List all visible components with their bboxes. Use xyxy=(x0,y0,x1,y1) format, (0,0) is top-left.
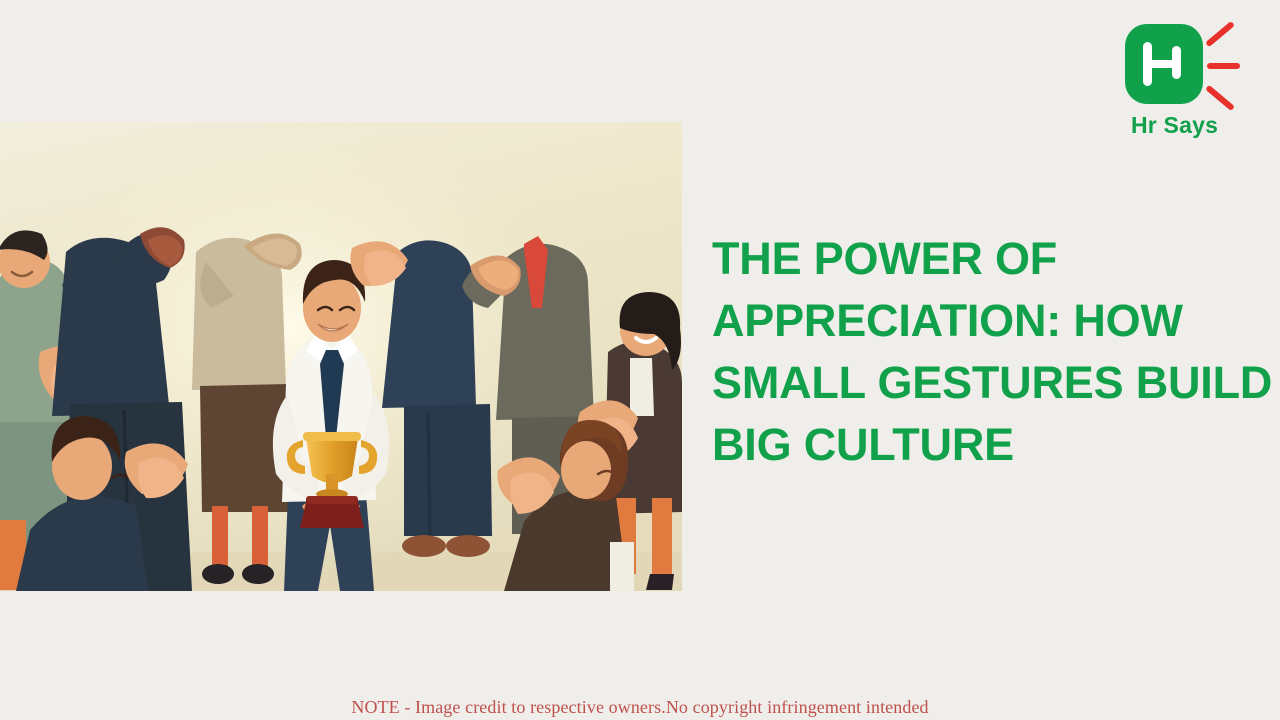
letter-h-cross-stroke xyxy=(1143,60,1181,68)
ray-upper xyxy=(1205,21,1235,47)
hero-image xyxy=(0,122,682,591)
brand-logo[interactable]: Hr Says xyxy=(1125,24,1255,139)
speech-rays-icon xyxy=(1201,26,1257,104)
logo-letter-h-icon xyxy=(1141,42,1187,86)
copyright-note: NOTE - Image credit to respective owners… xyxy=(0,697,1280,718)
ray-lower xyxy=(1205,85,1235,111)
page-title: THE POWER OF APPRECIATION: HOW SMALL GES… xyxy=(712,228,1280,476)
slide-canvas: Hr Says xyxy=(0,0,1280,720)
ray-middle xyxy=(1207,63,1240,69)
hr-says-logo-icon xyxy=(1125,24,1203,104)
brand-name-label: Hr Says xyxy=(1131,112,1218,139)
employee-recognition-illustration xyxy=(0,122,682,591)
